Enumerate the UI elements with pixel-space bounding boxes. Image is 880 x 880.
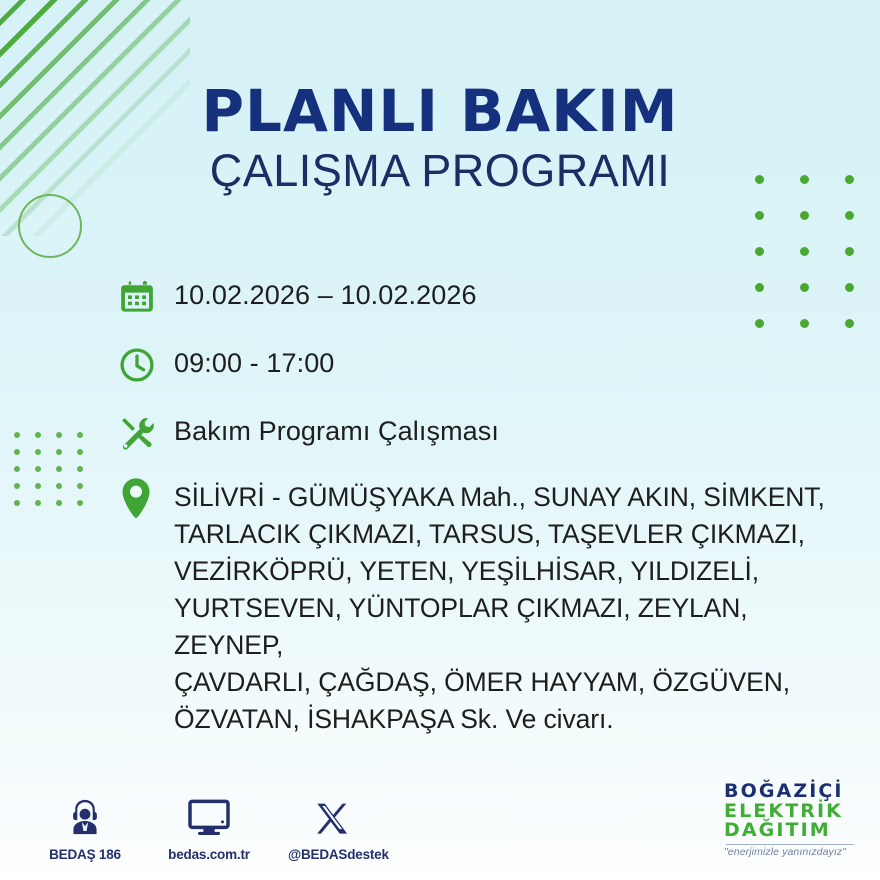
call-center-agent-icon [40,796,130,838]
poster-footer: BEDAŞ 186 bedas.com.tr [0,760,880,880]
dot-grid-decoration-left [14,432,98,517]
company-logo: BOĞAZİÇİ ELEKTRİK DAĞITIM "enerjimizle y… [724,782,854,858]
x-twitter-icon [288,796,378,838]
work-type-row: Bakım Programı Çalışması [118,410,858,456]
calendar-icon [118,274,174,320]
page-subtitle: ÇALIŞMA PROGRAMI [0,148,880,193]
work-type-text: Bakım Programı Çalışması [174,410,499,448]
poster-header: PLANLI BAKIM ÇALIŞMA PROGRAMI [0,82,880,193]
page-title: PLANLI BAKIM [0,82,880,140]
location-pin-icon [118,478,174,520]
clock-icon [118,342,174,388]
contact-website-label: bedas.com.tr [164,847,254,862]
monitor-icon [164,796,254,838]
contact-phone-label: BEDAŞ 186 [40,847,130,862]
time-row: 09:00 - 17:00 [118,342,858,388]
logo-line-bogazici: BOĞAZİÇİ [724,782,854,801]
time-range-text: 09:00 - 17:00 [174,342,334,380]
address-row: SİLİVRİ - GÜMÜŞYAKA Mah., SUNAY AKIN, Sİ… [118,478,858,738]
date-row: 10.02.2026 – 10.02.2026 [118,274,858,320]
contact-website[interactable]: bedas.com.tr [164,796,254,862]
contact-social[interactable]: @BEDASdestek [288,796,378,862]
contact-list: BEDAŞ 186 bedas.com.tr [40,796,378,862]
address-text: SİLİVRİ - GÜMÜŞYAKA Mah., SUNAY AKIN, Sİ… [174,478,858,738]
circle-outline-decoration [18,194,82,258]
logo-line-dagitim: DAĞITIM [724,821,854,840]
logo-divider [726,844,854,845]
info-list: 10.02.2026 – 10.02.2026 09:00 - 17:00 [118,274,858,738]
planned-maintenance-poster: PLANLI BAKIM ÇALIŞMA PROGRAMI [0,0,880,880]
tools-icon [118,410,174,456]
logo-slogan: "enerjimizle yanınızdayız" [724,847,854,858]
date-range-text: 10.02.2026 – 10.02.2026 [174,274,477,312]
contact-social-label: @BEDASdestek [288,847,378,862]
contact-phone[interactable]: BEDAŞ 186 [40,796,130,862]
